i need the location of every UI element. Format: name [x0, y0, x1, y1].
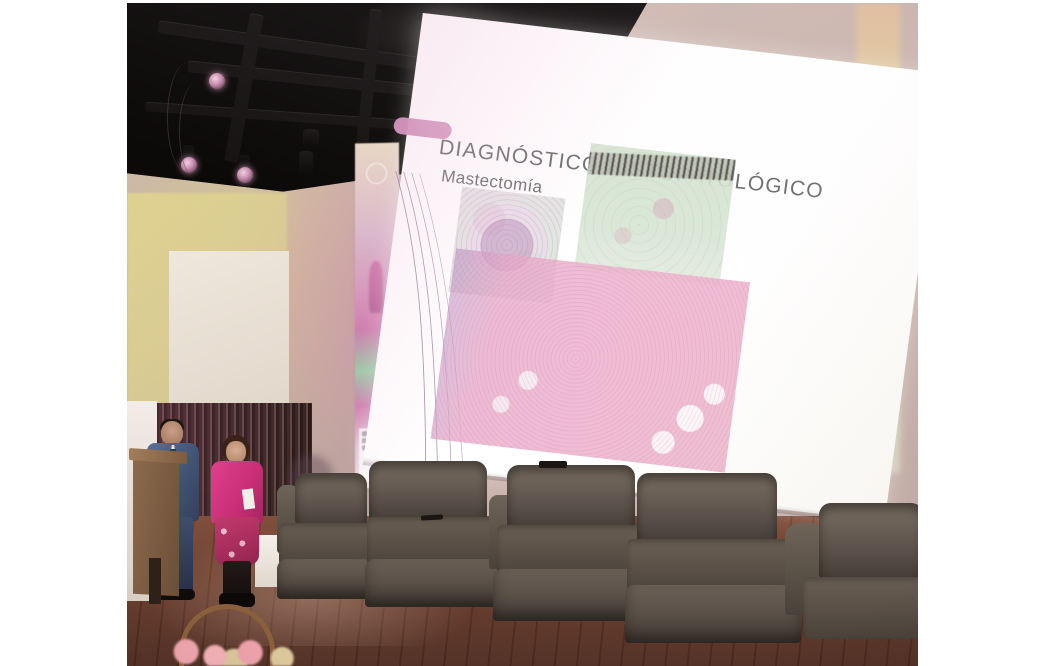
par-light [209, 73, 225, 89]
speaker-b-jacket [211, 461, 263, 523]
par-light [237, 167, 253, 183]
speaker-a-head [161, 421, 183, 445]
speaker-b-head [226, 441, 246, 463]
conference-stage-photo: ONCO [127, 3, 918, 666]
speaker-b-papers [242, 488, 255, 509]
moving-head-light [303, 129, 319, 147]
sofa-backrest [637, 473, 777, 549]
speaker-b-skirt [215, 517, 259, 565]
remote-control[interactable] [539, 461, 567, 468]
slide-micrograph-2 [574, 143, 736, 285]
screenshot-page: ONCO [0, 0, 1042, 666]
flower-arrangement [151, 618, 311, 666]
sofa-seat [803, 577, 918, 639]
banner-circle-logo-icon [366, 163, 387, 184]
sofa-base [625, 585, 801, 643]
rigging-cable [179, 83, 213, 179]
sofa-base [277, 559, 377, 599]
slide-micrograph-3 [431, 248, 750, 472]
sofa-backrest [819, 503, 918, 585]
banner-illustration [369, 261, 383, 313]
moving-head-light [299, 151, 313, 177]
lectern-stem [149, 558, 161, 604]
sofa-base [365, 559, 505, 607]
projection-screen: DIAGNÓSTICO HISTOPATOLÓGICO Mastectomía [363, 13, 918, 521]
speaker-beside-lectern [209, 437, 265, 605]
